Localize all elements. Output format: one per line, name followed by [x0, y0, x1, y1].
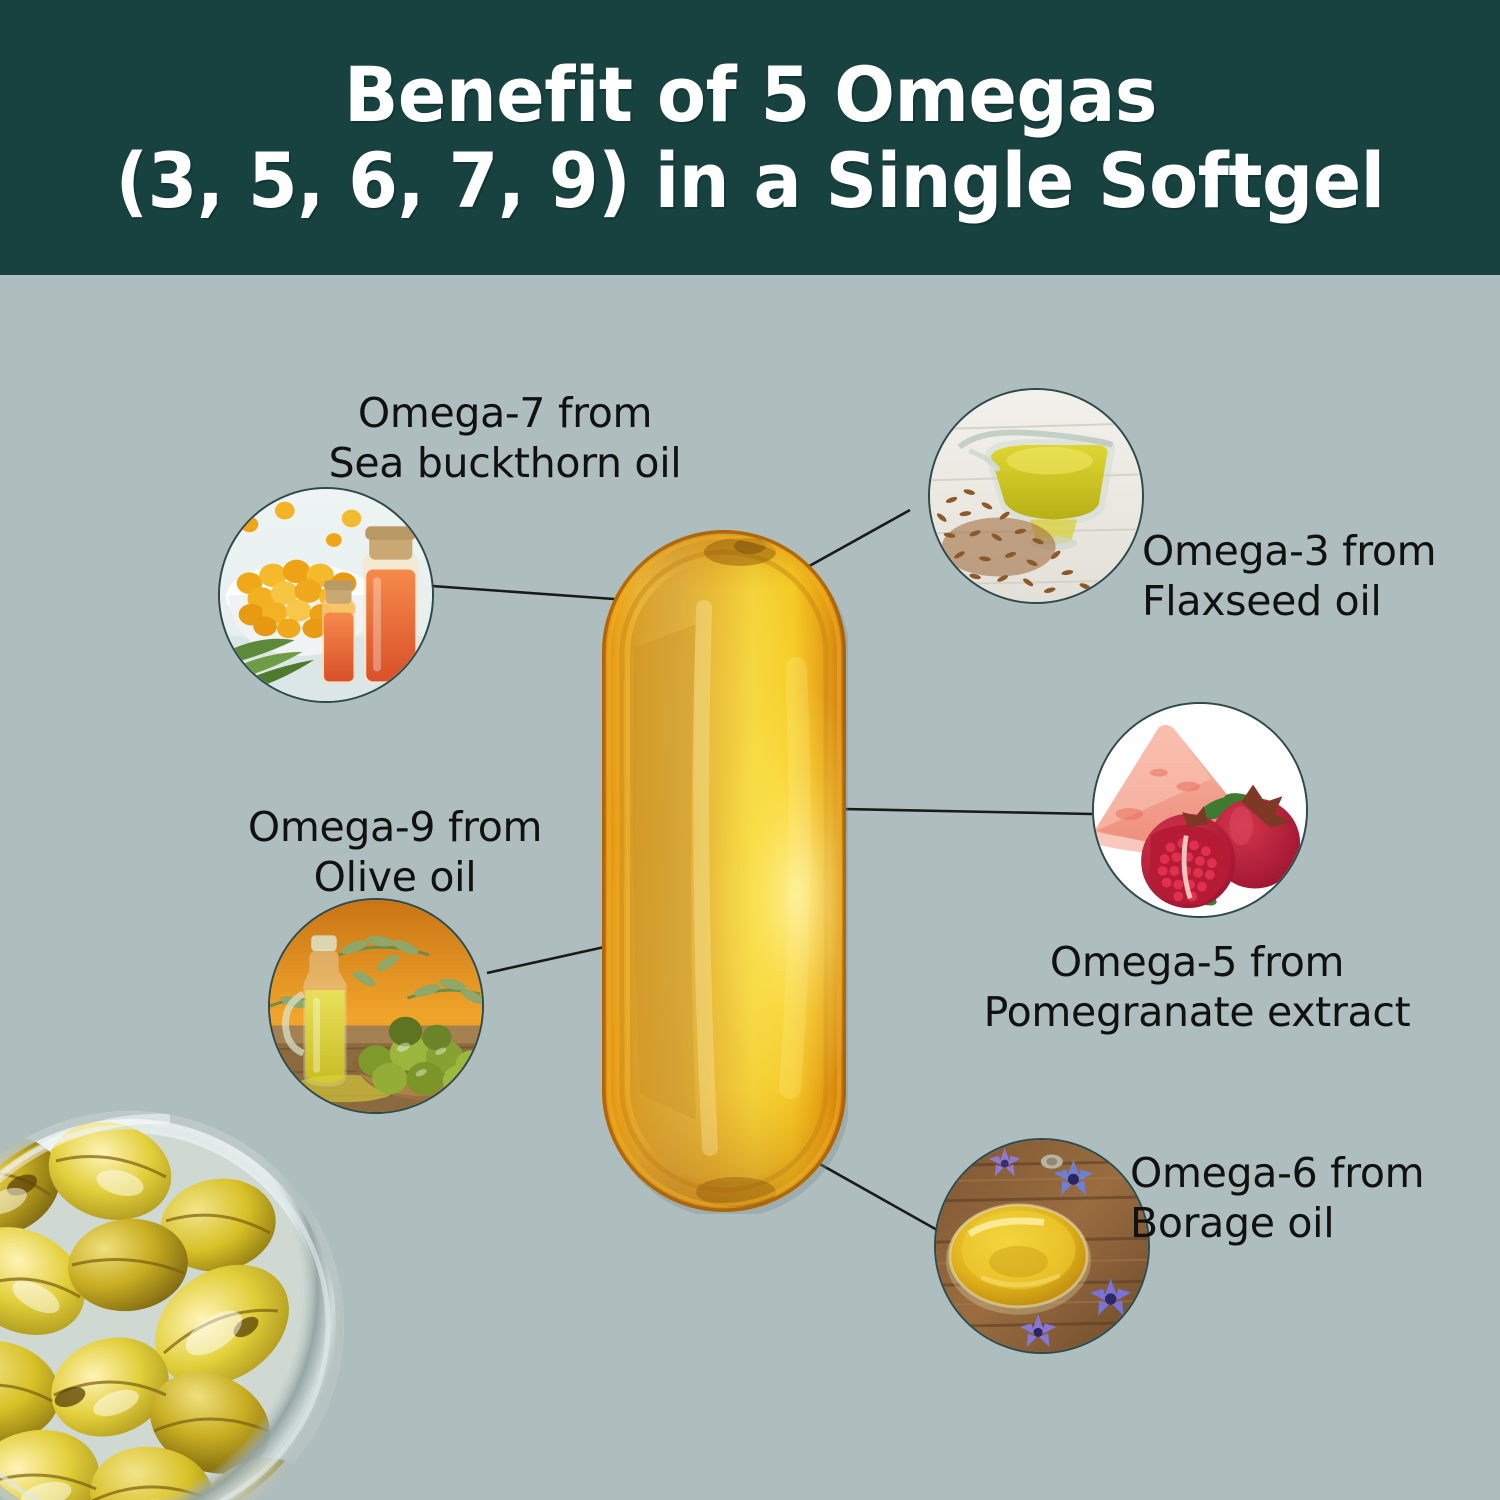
sea-buckthorn-oil-photo	[218, 487, 434, 703]
label-omega-9-line1: Omega-9 from	[200, 802, 590, 852]
pomegranate-extract-photo	[1092, 702, 1308, 918]
title-line-2: (3, 5, 6, 7, 9) in a Single Softgel	[115, 138, 1384, 223]
connector-line-omega-9	[487, 944, 618, 973]
label-omega-9: Omega-9 from Olive oil	[200, 802, 590, 902]
label-omega-6: Omega-6 from Borage oil	[1130, 1148, 1500, 1248]
softgel-capsule	[600, 528, 848, 1214]
label-omega-5-line1: Omega-5 from	[962, 937, 1432, 987]
label-omega-7-line1: Omega-7 from	[280, 388, 730, 438]
label-omega-3-line1: Omega-3 from	[1142, 526, 1500, 576]
label-omega-6-line2: Borage oil	[1130, 1198, 1500, 1248]
softgel-capsules-bowl	[0, 1075, 360, 1500]
title-line-1: Benefit of 5 Omegas	[344, 52, 1157, 137]
label-omega-7-line2: Sea buckthorn oil	[280, 438, 730, 488]
label-omega-5: Omega-5 from Pomegranate extract	[962, 937, 1432, 1037]
borage-oil-photo	[934, 1138, 1150, 1354]
label-omega-5-line2: Pomegranate extract	[962, 987, 1432, 1037]
label-omega-6-line1: Omega-6 from	[1130, 1148, 1500, 1198]
label-omega-3-line2: Flaxseed oil	[1142, 576, 1500, 626]
flaxseed-oil-photo	[928, 388, 1144, 604]
label-omega-7: Omega-7 from Sea buckthorn oil	[280, 388, 730, 488]
label-omega-9-line2: Olive oil	[200, 852, 590, 902]
header-banner: Benefit of 5 Omegas (3, 5, 6, 7, 9) in a…	[0, 0, 1500, 275]
connector-line-omega-7	[432, 586, 628, 600]
label-omega-3: Omega-3 from Flaxseed oil	[1142, 526, 1500, 626]
infographic-canvas: Benefit of 5 Omegas (3, 5, 6, 7, 9) in a…	[0, 0, 1500, 1500]
